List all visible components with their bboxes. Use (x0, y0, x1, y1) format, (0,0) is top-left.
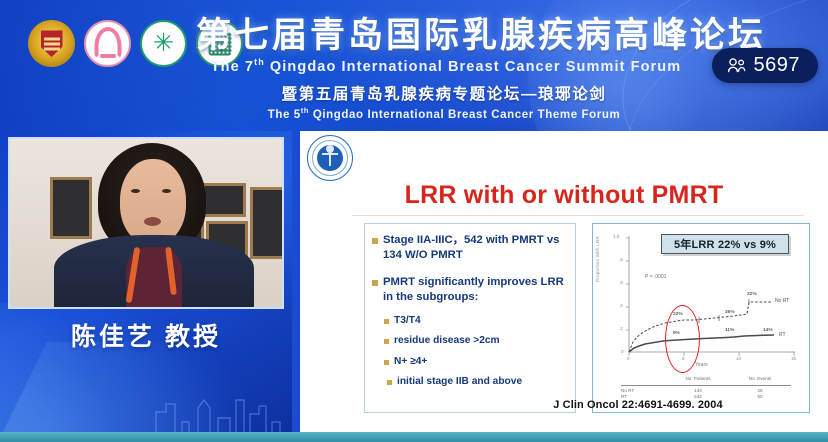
event-title-en: The 7th Qingdao International Breast Can… (196, 57, 696, 75)
list-item: T3/T4 (384, 314, 567, 327)
bullet-square-icon (387, 380, 392, 385)
slide-container: LRR with or without PMRT Stage IIA-IIIC，… (292, 131, 828, 434)
chart-x-tick: 10 (736, 356, 741, 361)
presenter-eye-right (162, 189, 171, 193)
kaplan-meier-chart: 5年LRR 22% vs 9% Proportion With LRR P = … (592, 223, 810, 413)
list-item: initial stage IIB and above (387, 375, 567, 388)
bullet-square-icon (384, 319, 389, 324)
table-row: No RT 134 28 (621, 388, 791, 395)
bullet-square-icon (384, 360, 389, 365)
bullet-text: T3/T4 (394, 314, 421, 327)
table-rule (621, 385, 791, 386)
chart-point-label: 26% (725, 310, 735, 315)
viewer-count-value: 5697 (754, 54, 801, 77)
chart-x-axis-label: Years (695, 362, 708, 368)
event-banner: 第七届青岛国际乳腺疾病高峰论坛 The 7th Qingdao Internat… (0, 0, 828, 131)
wall-photo-frame (50, 177, 92, 239)
table-cell: 134 (667, 388, 729, 395)
people-icon (727, 58, 746, 73)
chart-point-label: 32% (747, 292, 757, 297)
table-header-row: No. Patients No. Events (621, 376, 791, 383)
list-item: PMRT significantly improves LRR in the s… (372, 275, 567, 305)
viewer-count-badge[interactable]: 5697 (712, 48, 819, 83)
bullet-text: initial stage IIB and above (397, 375, 522, 388)
event-subtitle-en: The 5th Qingdao International Breast Can… (214, 106, 674, 121)
event-subtitle-cn: 暨第五届青岛乳腺疾病专题论坛—琅琊论剑 (214, 82, 674, 104)
green-asterisk-logo-icon (140, 20, 187, 67)
chart-y-tick: 0 (621, 349, 624, 354)
emblem-gold-shield-logo-icon (28, 20, 75, 67)
chart-y-tick: 1.0 (613, 234, 619, 239)
chart-y-tick: .6 (619, 280, 623, 285)
event-title-cn: 第七届青岛国际乳腺疾病高峰论坛 (196, 16, 696, 55)
table-cell: No RT (621, 388, 667, 395)
speaker-name: 陈佳艺 教授 (0, 317, 292, 353)
list-item: N+ ≥4+ (384, 355, 567, 368)
event-subtitle-block: 暨第五届青岛乳腺疾病专题论坛—琅琊论剑 The 5th Qingdao Inte… (214, 82, 674, 121)
presenter-mouth (144, 217, 161, 226)
event-title-block: 第七届青岛国际乳腺疾病高峰论坛 The 7th Qingdao Internat… (196, 16, 696, 75)
title-divider (352, 215, 804, 216)
list-item: Stage IIA-IIIC，542 with PMRT vs 134 W/O … (372, 233, 567, 263)
slide-title: LRR with or without PMRT (300, 181, 828, 210)
slide-citation: J Clin Oncol 22:4691-4699. 2004 (300, 399, 828, 411)
bullet-text: N+ ≥4+ (394, 355, 427, 368)
event-title-en-post: Qingdao International Breast Cancer Summ… (265, 59, 681, 75)
bullet-text: residue disease >2cm (394, 334, 500, 347)
event-title-en-pre: The 7 (211, 59, 254, 75)
event-subtitle-en-post: Qingdao International Breast Cancer Them… (309, 109, 620, 121)
chart-point-label: 14% (763, 328, 773, 333)
bullet-text: Stage IIA-IIIC，542 with PMRT vs 134 W/O … (383, 233, 567, 263)
presenter-face (120, 159, 186, 245)
event-title-en-sup: th (254, 57, 265, 67)
table-header-cell (621, 376, 667, 383)
chart-y-tick: .2 (619, 326, 623, 331)
bullet-square-icon (372, 238, 378, 244)
presenter-eye-left (131, 189, 140, 193)
chart-point-label: 11% (725, 328, 734, 333)
bullet-list-box: Stage IIA-IIIC，542 with PMRT vs 134 W/O … (364, 223, 576, 413)
bullet-text: PMRT significantly improves LRR in the s… (383, 275, 567, 305)
chart-y-tick: .8 (619, 257, 623, 262)
table-header-cell: No. Patients (667, 376, 729, 383)
wall-photo-frame (250, 187, 284, 259)
chart-risk-table: No. Patients No. Events No RT 134 28 RT … (621, 376, 791, 401)
chart-series-label-rt: RT (779, 332, 786, 338)
chart-x-tick: 0 (627, 356, 630, 361)
institution-logo-icon (307, 135, 353, 181)
table-cell: 28 (729, 388, 791, 395)
list-item: residue disease >2cm (384, 334, 567, 347)
chart-highlight-ellipse (665, 305, 700, 373)
bottom-accent-bar (0, 432, 828, 442)
pink-ribbon-logo-icon (84, 20, 131, 67)
bullet-square-icon (372, 280, 378, 286)
chart-y-tick: .4 (619, 303, 623, 308)
chart-series-label-no-rt: No RT (775, 298, 789, 304)
wall-photo-frame (202, 183, 246, 217)
presentation-slide[interactable]: LRR with or without PMRT Stage IIA-IIIC，… (300, 131, 828, 434)
table-header-cell: No. Events (729, 376, 791, 383)
bullet-square-icon (384, 339, 389, 344)
event-subtitle-en-sup: th (301, 106, 309, 115)
chart-x-tick: 15 (791, 356, 796, 361)
event-subtitle-en-pre: The 5 (268, 109, 301, 121)
presenter-video[interactable] (8, 137, 284, 309)
speaker-panel: 陈佳艺 教授 (0, 131, 292, 442)
